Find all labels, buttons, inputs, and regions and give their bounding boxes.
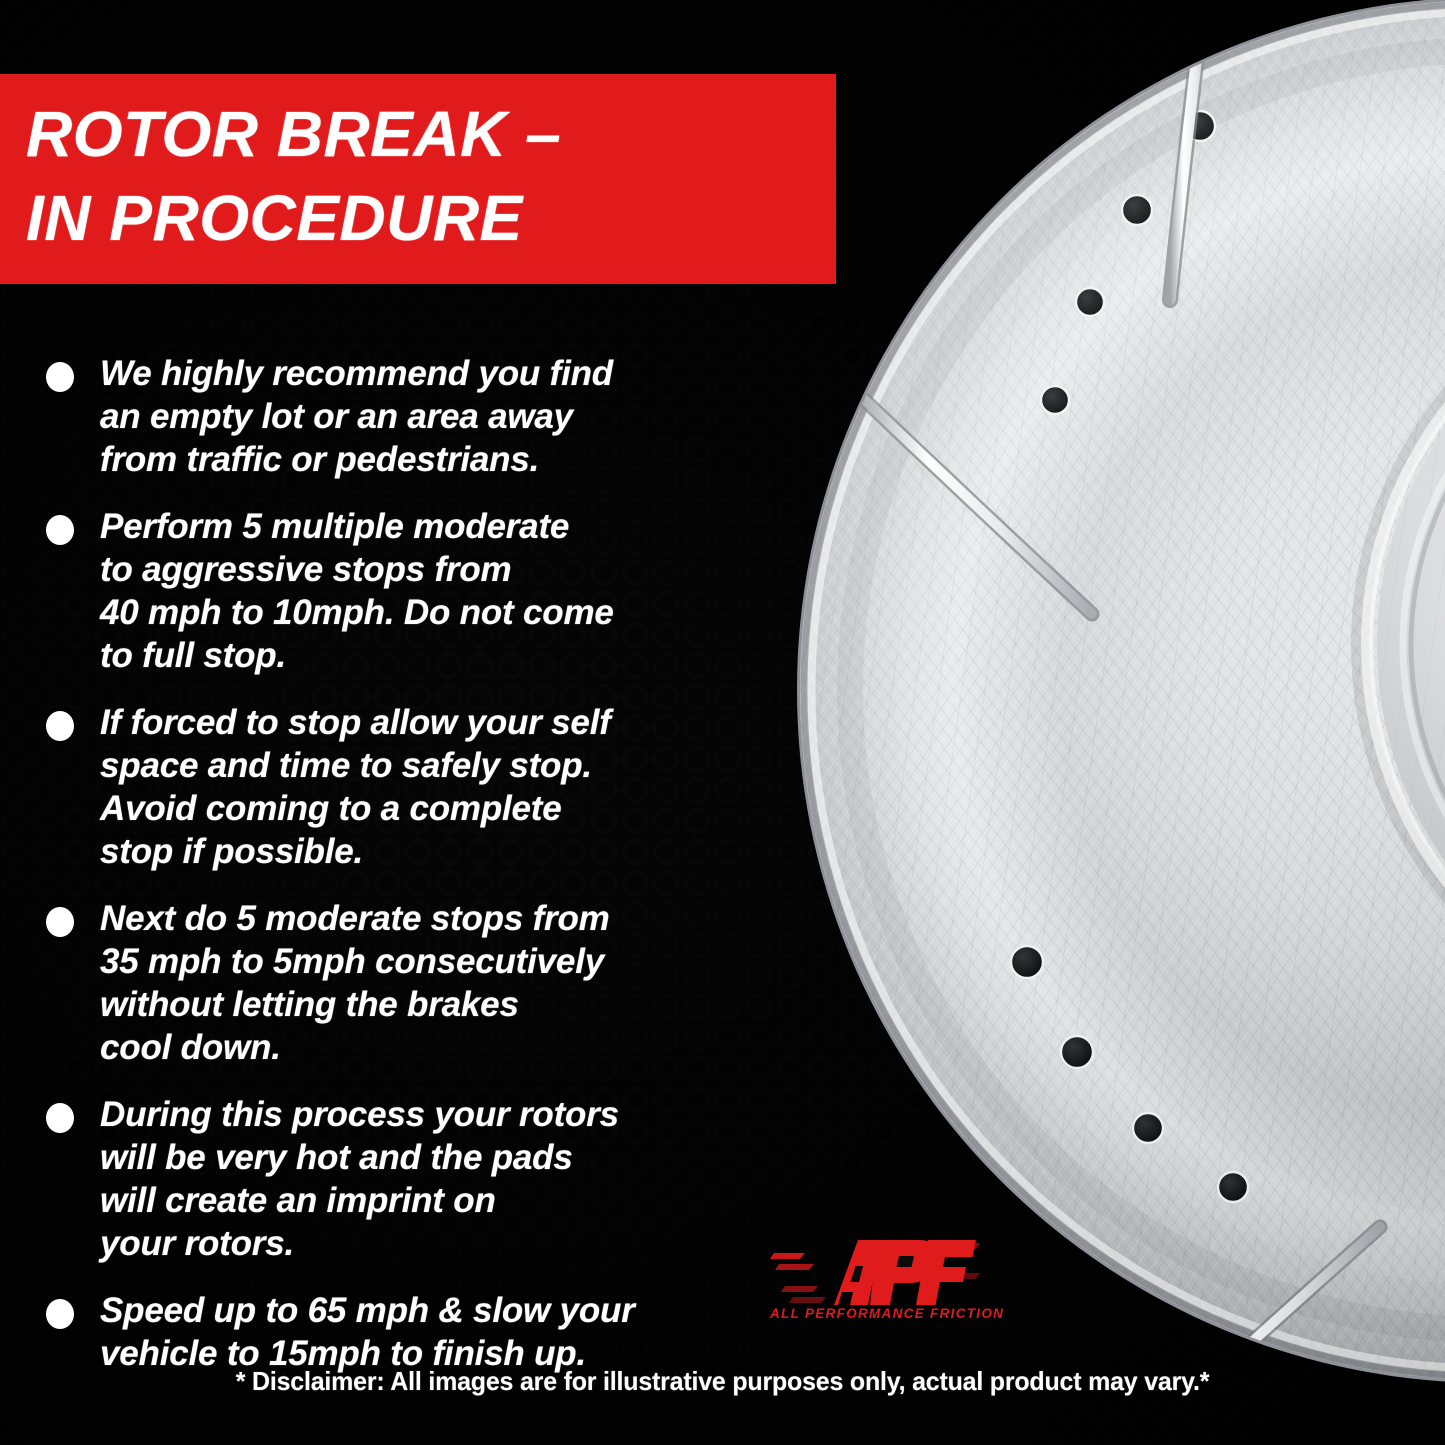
procedure-step-list: We highly recommend you find an empty lo… (46, 352, 776, 1399)
bullet-dot-icon (46, 711, 74, 741)
list-item: Perform 5 multiple moderate to aggressiv… (46, 505, 776, 677)
rotor-break-in-poster: ROTOR BREAK – IN PROCEDURE We highly rec… (0, 0, 1445, 1445)
bullet-dot-icon (46, 362, 74, 392)
list-item: If forced to stop allow your self space … (46, 701, 776, 873)
apf-logo-tagline: ALL PERFORMANCE FRICTION (770, 1306, 982, 1321)
list-item: During this process your rotors will be … (46, 1093, 776, 1265)
list-item: Next do 5 moderate stops from 35 mph to … (46, 897, 776, 1069)
apf-logo-icon (770, 1236, 980, 1336)
list-item-text: We highly recommend you find an empty lo… (100, 352, 613, 481)
bullet-dot-icon (46, 1103, 74, 1133)
title-line-2: IN PROCEDURE (26, 176, 836, 260)
title-line-1: ROTOR BREAK – (26, 92, 836, 176)
list-item-text: Next do 5 moderate stops from 35 mph to … (100, 897, 610, 1069)
bullet-dot-icon (46, 515, 74, 545)
list-item-text: Speed up to 65 mph & slow your vehicle t… (100, 1289, 635, 1375)
bullet-dot-icon (46, 1299, 74, 1329)
page-title: ROTOR BREAK – IN PROCEDURE (0, 74, 836, 284)
list-item-text: Perform 5 multiple moderate to aggressiv… (100, 505, 614, 677)
disclaimer-text: * Disclaimer: All images are for illustr… (29, 1366, 1416, 1397)
list-item-text: During this process your rotors will be … (100, 1093, 619, 1265)
list-item: We highly recommend you find an empty lo… (46, 352, 776, 481)
bullet-dot-icon (46, 907, 74, 937)
list-item-text: If forced to stop allow your self space … (100, 701, 611, 873)
list-item: Speed up to 65 mph & slow your vehicle t… (46, 1289, 776, 1375)
